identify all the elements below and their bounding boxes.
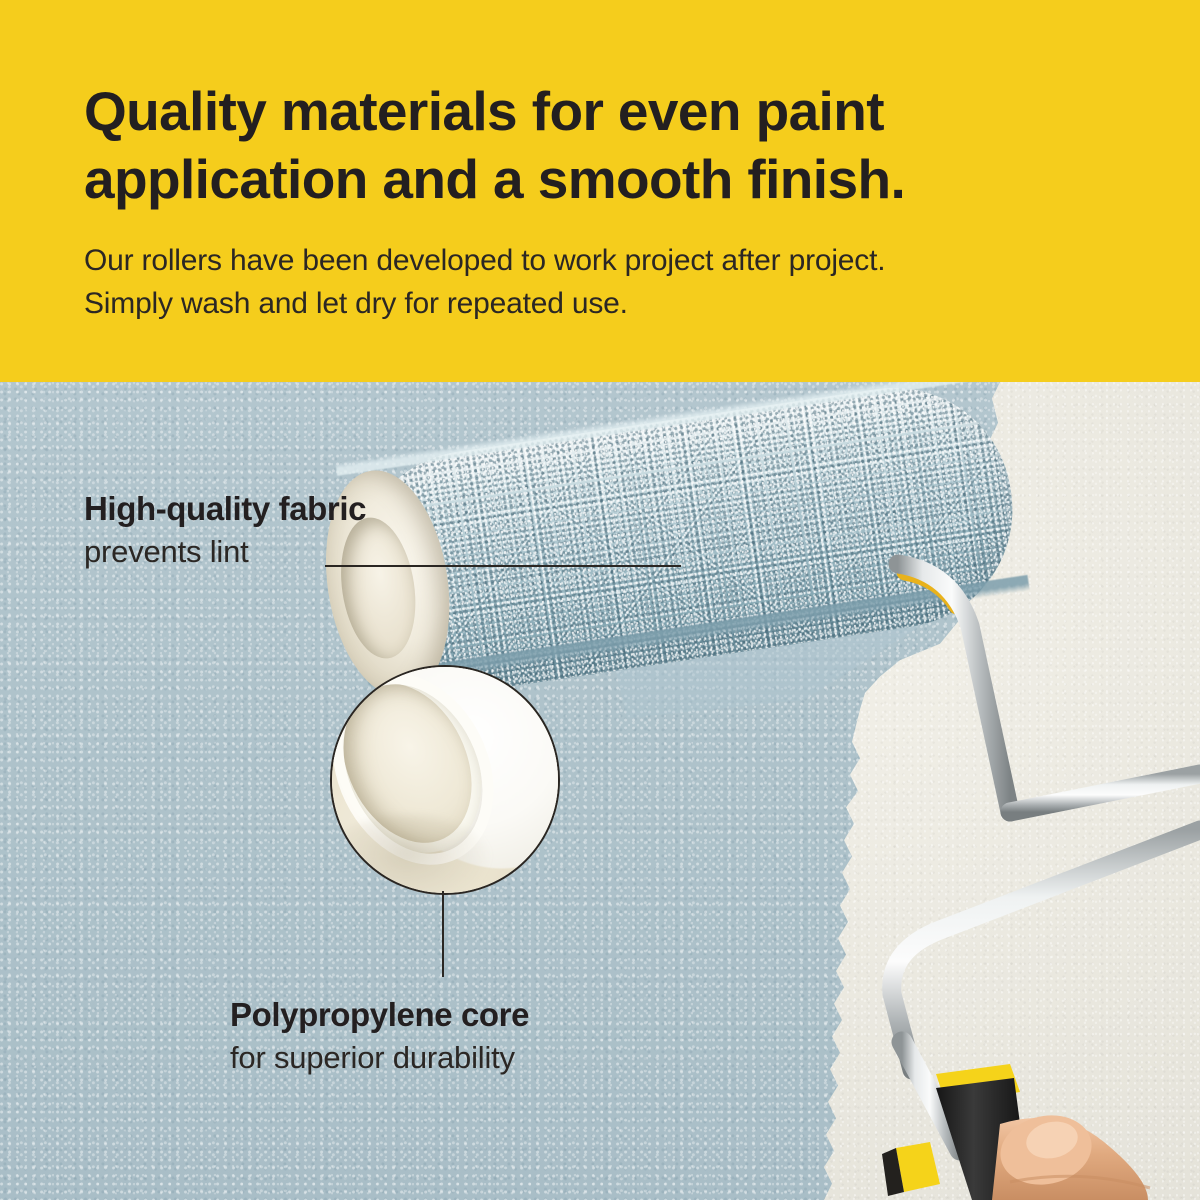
header-title: Quality materials for even paint applica… xyxy=(84,78,1064,213)
product-photo: High-quality fabric prevents lint Polypr… xyxy=(0,382,1200,1200)
header-subtitle: Our rollers have been developed to work … xyxy=(84,240,1124,325)
callout-fabric-title: High-quality fabric xyxy=(84,489,366,529)
leader-line-fabric xyxy=(325,565,681,567)
leader-line-core xyxy=(442,891,444,977)
callout-fabric-subtitle: prevents lint xyxy=(84,533,366,570)
callout-core: Polypropylene core for superior durabili… xyxy=(230,995,529,1076)
callout-fabric: High-quality fabric prevents lint xyxy=(84,489,366,570)
core-magnifier-circle xyxy=(330,665,560,895)
callout-core-title: Polypropylene core xyxy=(230,995,529,1035)
header-band: Quality materials for even paint applica… xyxy=(0,0,1200,382)
promo-banner: Quality materials for even paint applica… xyxy=(0,0,1200,1200)
callout-core-subtitle: for superior durability xyxy=(230,1039,529,1076)
magnifier-background xyxy=(330,665,560,895)
